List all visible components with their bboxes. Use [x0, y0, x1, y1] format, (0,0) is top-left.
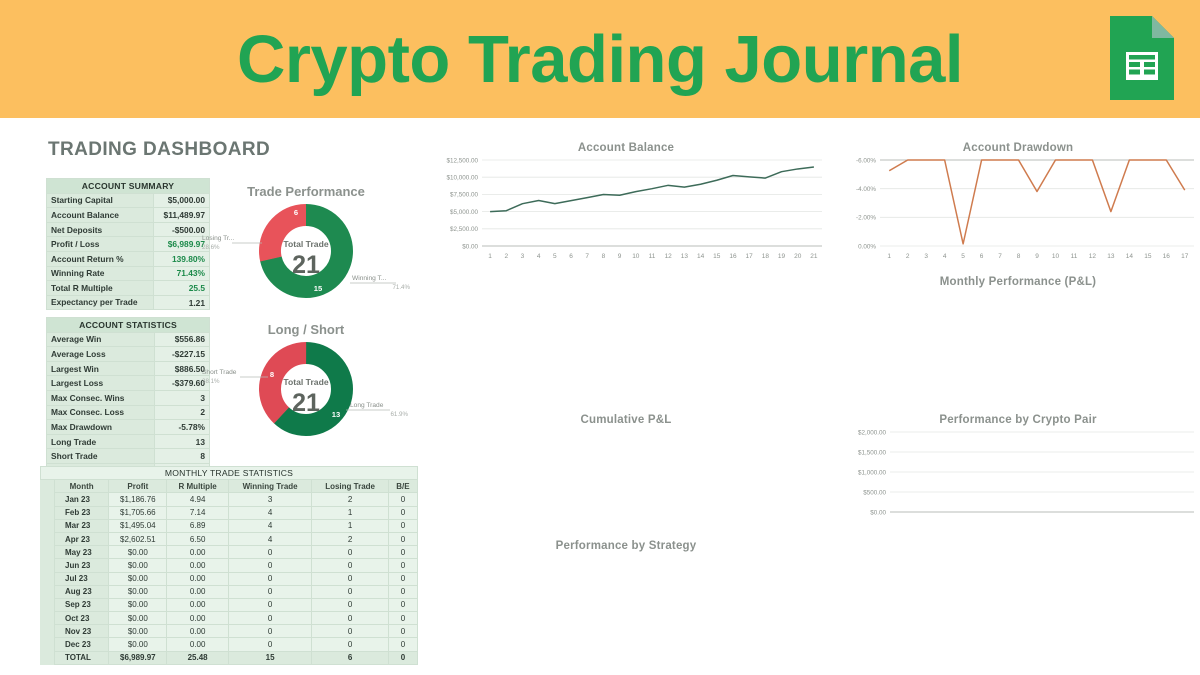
x-axis-tick: 19 [778, 253, 786, 260]
table-row: Oct 23$0.000.00000 [41, 612, 418, 625]
row-label: Max Consec. Wins [47, 390, 155, 405]
table-cell: Jun 23 [55, 559, 109, 572]
table-caption: ACCOUNT SUMMARY [47, 179, 210, 194]
table-row: Total R Multiple25.5 [47, 281, 210, 296]
x-axis-tick: 6 [980, 253, 984, 260]
account-statistics-body: ACCOUNT STATISTICSAverage Win$556.86Aver… [47, 318, 210, 479]
table-cell: 6.89 [167, 519, 229, 532]
row-label: Total R Multiple [47, 281, 154, 296]
monthly-pl-panel: Cumulative P&L [424, 414, 828, 536]
table-cell: $0.00 [109, 559, 167, 572]
x-axis-tick: 5 [553, 253, 557, 260]
x-axis-tick: 17 [746, 253, 754, 260]
x-axis-tick: 4 [943, 253, 947, 260]
table-row: Feb 23$1,705.667.14410 [41, 506, 418, 519]
table-cell: $0.00 [109, 585, 167, 598]
winning-losing-panel [424, 276, 828, 398]
table-caption-row: ACCOUNT SUMMARY [47, 179, 210, 194]
column-header: Losing Trade [312, 480, 389, 493]
table-cell: 4 [228, 532, 311, 545]
table-cell: 0 [312, 612, 389, 625]
donut-slice-value-winning: 15 [314, 284, 323, 293]
trade-performance-title: Trade Performance [200, 184, 412, 199]
row-value: 8 [155, 449, 210, 464]
row-label: Long Trade [47, 434, 155, 449]
table-cell: 0.00 [167, 638, 229, 651]
donut-callout-losing-pct: 28.6% [202, 244, 220, 251]
x-axis-tick: 13 [681, 253, 689, 260]
spacer-cell [41, 493, 55, 506]
table-cell: 0 [228, 638, 311, 651]
table-cell: 0 [228, 612, 311, 625]
table-caption: ACCOUNT STATISTICS [47, 318, 210, 333]
table-cell: $0.00 [109, 625, 167, 638]
page-title: Crypto Trading Journal [237, 26, 963, 93]
table-cell: 0 [388, 506, 417, 519]
donut-callout-winning-label: Winning T... [352, 275, 386, 282]
column-header: Winning Trade [228, 480, 311, 493]
spacer-cell [41, 532, 55, 545]
table-cell: 2 [312, 532, 389, 545]
winning-losing-trades-chart [424, 276, 828, 398]
line-series [490, 167, 814, 212]
spacer-cell [41, 612, 55, 625]
table-cell: $1,705.66 [109, 506, 167, 519]
table-row: Jul 23$0.000.00000 [41, 572, 418, 585]
column-header: Month [55, 480, 109, 493]
table-cell: Jan 23 [55, 493, 109, 506]
table-row: Jun 23$0.000.00000 [41, 559, 418, 572]
y-axis-tick: $2,000.00 [858, 429, 887, 436]
y-axis-tick: $7,500.00 [450, 192, 479, 199]
table-cell: Oct 23 [55, 612, 109, 625]
row-label: Profit / Loss [47, 237, 154, 252]
spacer-cell [41, 480, 55, 493]
account-balance-panel: Account Balance $0.00$2,500.00$5,000.00$… [424, 142, 828, 270]
cumulative-pl-title: Performance by Crypto Pair [836, 414, 1200, 426]
x-axis-tick: 16 [1163, 253, 1171, 260]
strategy-panel [836, 540, 1200, 672]
table-cell: 0.00 [167, 572, 229, 585]
table-cell: 0.00 [167, 546, 229, 559]
table-cell: May 23 [55, 546, 109, 559]
row-label: Winning Rate [47, 266, 154, 281]
y-axis-tick: 0.00% [858, 243, 876, 250]
table-cell: 0.00 [167, 559, 229, 572]
performance-by-crypto-pair-chart [424, 552, 828, 664]
x-axis-tick: 20 [794, 253, 802, 260]
y-axis-tick: -2.00% [856, 215, 876, 222]
table-cell: 0 [312, 638, 389, 651]
spacer-cell [41, 651, 55, 664]
monthly-trade-statistics-body: MONTHLY TRADE STATISTICSMonthProfitR Mul… [41, 467, 418, 665]
table-cell: Aug 23 [55, 585, 109, 598]
account-statistics-table: ACCOUNT STATISTICSAverage Win$556.86Aver… [46, 317, 210, 479]
donut-center-label: Total Trade [283, 239, 328, 249]
x-axis-tick: 13 [1107, 253, 1115, 260]
monthly-trade-statistics-table: MONTHLY TRADE STATISTICSMonthProfitR Mul… [40, 466, 418, 665]
donut-center-label: Total Trade [283, 377, 328, 387]
table-row: Short Trade8 [47, 449, 210, 464]
table-cell: 0 [388, 625, 417, 638]
row-label: Average Win [47, 332, 155, 347]
table-cell: 0 [228, 598, 311, 611]
table-cell: 0 [312, 546, 389, 559]
account-balance-chart: $0.00$2,500.00$5,000.00$7,500.00$10,000.… [424, 154, 828, 264]
y-axis-tick: $1,000.00 [858, 469, 887, 476]
x-axis-tick: 14 [1126, 253, 1134, 260]
table-caption: MONTHLY TRADE STATISTICS [41, 467, 418, 480]
table-cell: 3 [228, 493, 311, 506]
account-drawdown-title: Account Drawdown [836, 142, 1200, 154]
y-axis-tick: $1,500.00 [858, 449, 887, 456]
table-row: May 23$0.000.00000 [41, 546, 418, 559]
table-cell: 0 [388, 638, 417, 651]
dashboard-page: Crypto Trading Journal TRADING DASHBOARD… [0, 0, 1200, 675]
table-cell: 0.00 [167, 585, 229, 598]
table-row: Account Return %139.80% [47, 251, 210, 266]
table-cell: 0.00 [167, 625, 229, 638]
donut-slice-value-long: 13 [332, 410, 340, 419]
x-axis-tick: 12 [1089, 253, 1097, 260]
x-axis-tick: 4 [537, 253, 541, 260]
table-cell: $0.00 [109, 612, 167, 625]
table-row: Dec 23$0.000.00000 [41, 638, 418, 651]
y-axis-tick: -6.00% [856, 157, 876, 164]
table-caption-row: MONTHLY TRADE STATISTICS [41, 467, 418, 480]
account-summary-table: ACCOUNT SUMMARYStarting Capital$5,000.00… [46, 178, 210, 310]
table-cell: TOTAL [55, 651, 109, 664]
table-cell: 0 [388, 572, 417, 585]
donut-callout-losing-label: Losing Tr... [202, 235, 234, 242]
x-axis-tick: 3 [924, 253, 928, 260]
table-cell: 0 [388, 585, 417, 598]
donut-callout-winning-pct: 71.4% [392, 284, 410, 291]
table-row: Starting Capital$5,000.00 [47, 193, 210, 208]
table-cell: $0.00 [109, 546, 167, 559]
table-row: Sep 23$0.000.00000 [41, 598, 418, 611]
x-axis-tick: 11 [649, 253, 656, 260]
spacer-cell [41, 638, 55, 651]
y-axis-tick: $500.00 [863, 489, 886, 496]
y-axis-tick: $12,500.00 [446, 157, 478, 164]
account-drawdown-panel: Account Drawdown 0.00%-2.00%-4.00%-6.00%… [836, 142, 1200, 270]
trade-performance-donut: Total Trade 21 6 15 Losing Tr... 28.6% W… [200, 199, 412, 303]
table-row: Jan 23$1,186.764.94320 [41, 493, 418, 506]
table-cell: 15 [228, 651, 311, 664]
x-axis-tick: 17 [1181, 253, 1189, 260]
table-cell: Dec 23 [55, 638, 109, 651]
donut-callout-long-pct: 61.9% [390, 411, 408, 418]
table-cell: 6.50 [167, 532, 229, 545]
row-label: Short Trade [47, 449, 155, 464]
google-sheets-icon [1106, 12, 1178, 104]
performance-by-strategy-chart [836, 540, 1200, 652]
spacer-cell [41, 519, 55, 532]
row-label: Largest Loss [47, 376, 155, 391]
line-series [889, 160, 1185, 244]
table-row: Average Win$556.86 [47, 332, 210, 347]
y-axis-tick: $10,000.00 [446, 175, 478, 182]
monthly-pl-title: Cumulative P&L [424, 414, 828, 426]
y-axis-tick: -4.00% [856, 186, 876, 193]
table-row: Largest Win$886.50 [47, 361, 210, 376]
table-cell: 25.48 [167, 651, 229, 664]
monthly-performance-r-chart [836, 288, 1200, 398]
table-row: Nov 23$0.000.00000 [41, 625, 418, 638]
donut-callout-long-label: Long Trade [350, 402, 384, 409]
x-axis-tick: 12 [665, 253, 673, 260]
row-label: Starting Capital [47, 193, 154, 208]
table-cell: 4.94 [167, 493, 229, 506]
x-axis-tick: 8 [602, 253, 606, 260]
row-label: Net Deposits [47, 222, 154, 237]
table-cell: $6,989.97 [109, 651, 167, 664]
x-axis-tick: 10 [632, 253, 640, 260]
x-axis-tick: 6 [569, 253, 573, 260]
table-row: Account Balance$11,489.97 [47, 208, 210, 223]
x-axis-tick: 7 [998, 253, 1002, 260]
table-row: Average Loss-$227.15 [47, 347, 210, 362]
table-cell: Jul 23 [55, 572, 109, 585]
row-label: Largest Win [47, 361, 155, 376]
table-cell: 0 [228, 546, 311, 559]
dashboard-title: TRADING DASHBOARD [48, 139, 270, 161]
table-cell: 6 [312, 651, 389, 664]
x-axis-tick: 1 [488, 253, 492, 260]
long-short-donut: Total Trade 21 8 13 Short Trade 38.1% Lo… [200, 337, 412, 441]
spacer-cell [41, 546, 55, 559]
y-axis-tick: $2,500.00 [450, 226, 479, 233]
table-cell: 0 [388, 546, 417, 559]
table-cell: $1,495.04 [109, 519, 167, 532]
account-drawdown-chart: 0.00%-2.00%-4.00%-6.00%12345678910111213… [836, 154, 1200, 264]
x-axis-tick: 9 [618, 253, 622, 260]
monthly-r-panel: Monthly Performance (P&L) [836, 276, 1200, 404]
row-label: Account Balance [47, 208, 154, 223]
x-axis-tick: 16 [729, 253, 737, 260]
account-balance-title: Account Balance [424, 142, 828, 154]
table-row: Max Consec. Loss2 [47, 405, 210, 420]
table-row: Aug 23$0.000.00000 [41, 585, 418, 598]
x-axis-tick: 21 [810, 253, 818, 260]
x-axis-tick: 1 [887, 253, 891, 260]
table-cell: 2 [312, 493, 389, 506]
crypto-pair-title: Performance by Strategy [424, 540, 828, 552]
table-row: Expectancy per Trade1.21 [47, 295, 210, 310]
table-cell: 1 [312, 519, 389, 532]
x-axis-tick: 15 [713, 253, 721, 260]
spacer-cell [41, 598, 55, 611]
table-cell: 1 [312, 506, 389, 519]
x-axis-tick: 14 [697, 253, 705, 260]
donut-center-value: 21 [292, 389, 320, 417]
crypto-pair-panel: Performance by Strategy [424, 540, 828, 672]
spacer-cell [41, 559, 55, 572]
table-cell: $0.00 [109, 598, 167, 611]
x-axis-tick: 15 [1144, 253, 1152, 260]
column-header: Profit [109, 480, 167, 493]
header-banner: Crypto Trading Journal [0, 0, 1200, 118]
table-cell: Apr 23 [55, 532, 109, 545]
x-axis-tick: 10 [1052, 253, 1060, 260]
table-cell: $2,602.51 [109, 532, 167, 545]
x-axis-tick: 18 [762, 253, 770, 260]
table-caption-row: ACCOUNT STATISTICS [47, 318, 210, 333]
table-row: Apr 23$2,602.516.50420 [41, 532, 418, 545]
spacer-cell [41, 625, 55, 638]
x-axis-tick: 8 [1017, 253, 1021, 260]
table-cell: 4 [228, 506, 311, 519]
table-cell: 0 [388, 519, 417, 532]
table-cell: 0.00 [167, 612, 229, 625]
table-cell: 0 [388, 493, 417, 506]
y-axis-tick: $0.00 [462, 243, 478, 250]
donut-slice-value-losing: 6 [294, 208, 298, 217]
table-cell: 0 [388, 532, 417, 545]
column-header: R Multiple [167, 480, 229, 493]
table-cell: 4 [228, 519, 311, 532]
column-header: B/E [388, 480, 417, 493]
table-row: Max Drawdown-5.78% [47, 420, 210, 435]
row-label: Expectancy per Trade [47, 295, 154, 310]
table-cell: 7.14 [167, 506, 229, 519]
row-label: Max Drawdown [47, 420, 155, 435]
account-summary-body: ACCOUNT SUMMARYStarting Capital$5,000.00… [47, 179, 210, 310]
x-axis-tick: 9 [1035, 253, 1039, 260]
table-cell: Nov 23 [55, 625, 109, 638]
y-axis-tick: $0.00 [870, 509, 886, 516]
table-cell: 0 [228, 559, 311, 572]
table-cell: 0 [228, 585, 311, 598]
table-cell: 0.00 [167, 598, 229, 611]
table-cell: 0 [388, 651, 417, 664]
table-row: Mar 23$1,495.046.89410 [41, 519, 418, 532]
table-cell: 0 [312, 572, 389, 585]
table-row: Profit / Loss$6,989.97 [47, 237, 210, 252]
table-row: Winning Rate71.43% [47, 266, 210, 281]
donut-slice-value-short: 8 [270, 370, 274, 379]
table-cell: $0.00 [109, 572, 167, 585]
spacer-cell [41, 506, 55, 519]
y-axis-tick: $5,000.00 [450, 209, 479, 216]
x-axis-tick: 2 [906, 253, 910, 260]
row-label: Account Return % [47, 251, 154, 266]
long-short-title: Long / Short [200, 322, 412, 337]
x-axis-tick: 5 [961, 253, 965, 260]
x-axis-tick: 11 [1071, 253, 1078, 260]
donut-callout-short-pct: 38.1% [202, 378, 220, 385]
row-label: Average Loss [47, 347, 155, 362]
trade-performance-chart: Trade Performance Total Trade 21 6 15 Lo… [200, 184, 412, 304]
table-cell: 0 [312, 585, 389, 598]
monthly-r-title: Monthly Performance (P&L) [836, 276, 1200, 288]
table-cell: 0 [312, 559, 389, 572]
table-cell: Feb 23 [55, 506, 109, 519]
cumulative-pl-panel: Performance by Crypto Pair $0.00$500.00$… [836, 414, 1200, 536]
table-cell: $0.00 [109, 638, 167, 651]
table-cell: 0 [388, 612, 417, 625]
x-axis-tick: 3 [521, 253, 525, 260]
table-row: Largest Loss-$379.60 [47, 376, 210, 391]
table-cell: 0 [312, 598, 389, 611]
row-label: Max Consec. Loss [47, 405, 155, 420]
table-header-row: MonthProfitR MultipleWinning TradeLosing… [41, 480, 418, 493]
donut-callout-short-label: Short Trade [202, 369, 237, 376]
table-row: Long Trade13 [47, 434, 210, 449]
long-short-chart: Long / Short Total Trade 21 8 13 Short T… [200, 322, 412, 442]
table-cell: 0 [228, 625, 311, 638]
table-cell: $1,186.76 [109, 493, 167, 506]
table-row: Max Consec. Wins3 [47, 390, 210, 405]
table-total-row: TOTAL$6,989.9725.481560 [41, 651, 418, 664]
donut-center-value: 21 [292, 251, 320, 279]
table-cell: Sep 23 [55, 598, 109, 611]
x-axis-tick: 7 [585, 253, 589, 260]
spacer-cell [41, 572, 55, 585]
spacer-cell [41, 585, 55, 598]
table-cell: 0 [228, 572, 311, 585]
table-row: Net Deposits-$500.00 [47, 222, 210, 237]
monthly-performance-pl-chart [424, 426, 828, 530]
table-cell: Mar 23 [55, 519, 109, 532]
table-cell: 0 [388, 559, 417, 572]
x-axis-tick: 2 [504, 253, 508, 260]
table-cell: 0 [312, 625, 389, 638]
table-cell: 0 [388, 598, 417, 611]
cumulative-pl-chart: $0.00$500.00$1,000.00$1,500.00$2,000.00 [836, 426, 1200, 530]
